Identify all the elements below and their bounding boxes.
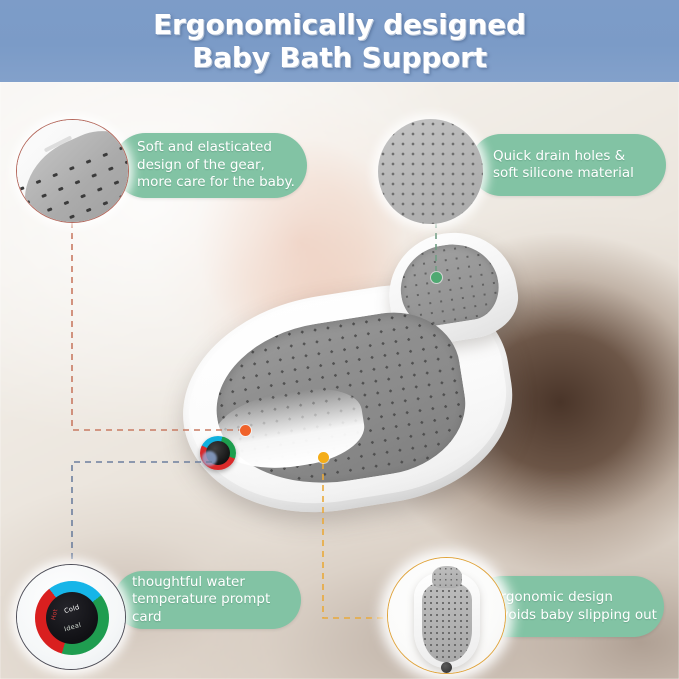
callout-text-quick-drain-holes: Quick drain holes & soft silicone materi… bbox=[493, 148, 634, 183]
inset-drain-hole-pad-closeup bbox=[378, 119, 483, 224]
callout-text-temperature-card: thoughtful water temperature prompt card bbox=[132, 574, 301, 627]
inset-seat-top-view bbox=[387, 557, 506, 674]
callout-text-ergonomic-design: Ergonomic design Avoids baby slipping ou… bbox=[492, 589, 657, 624]
product-knob-gloss bbox=[202, 451, 217, 466]
infographic-page: Soft and elasticated design of the gear,… bbox=[0, 0, 679, 679]
hotspot-soft-gear bbox=[240, 425, 251, 436]
hotspot-drain-holes bbox=[431, 272, 442, 283]
callout-pill-quick-drain-holes[interactable]: Quick drain holes & soft silicone materi… bbox=[470, 134, 666, 196]
product-bath-support-seat bbox=[160, 225, 550, 545]
header-title-line2: Baby Bath Support bbox=[192, 41, 487, 74]
inset-water-temperature-card: Cold Ideal Hot bbox=[16, 564, 126, 670]
inset4-headrest bbox=[432, 566, 462, 588]
inset2-drain-holes bbox=[378, 119, 483, 224]
callout-pill-soft-elasticated[interactable]: Soft and elasticated design of the gear,… bbox=[113, 133, 307, 198]
inset4-seat-pad bbox=[422, 582, 472, 662]
inset4-knob bbox=[441, 662, 452, 673]
header-title-line1: Ergonomically designed bbox=[153, 8, 526, 41]
header-banner: Ergonomically designed Baby Bath Support bbox=[0, 0, 679, 82]
callout-pill-temperature-card[interactable]: thoughtful water temperature prompt card bbox=[114, 571, 301, 629]
callout-text-soft-elasticated: Soft and elasticated design of the gear,… bbox=[137, 139, 295, 192]
hotspot-ergonomic bbox=[318, 452, 329, 463]
inset-perforated-seat-edge-closeup bbox=[16, 119, 129, 223]
